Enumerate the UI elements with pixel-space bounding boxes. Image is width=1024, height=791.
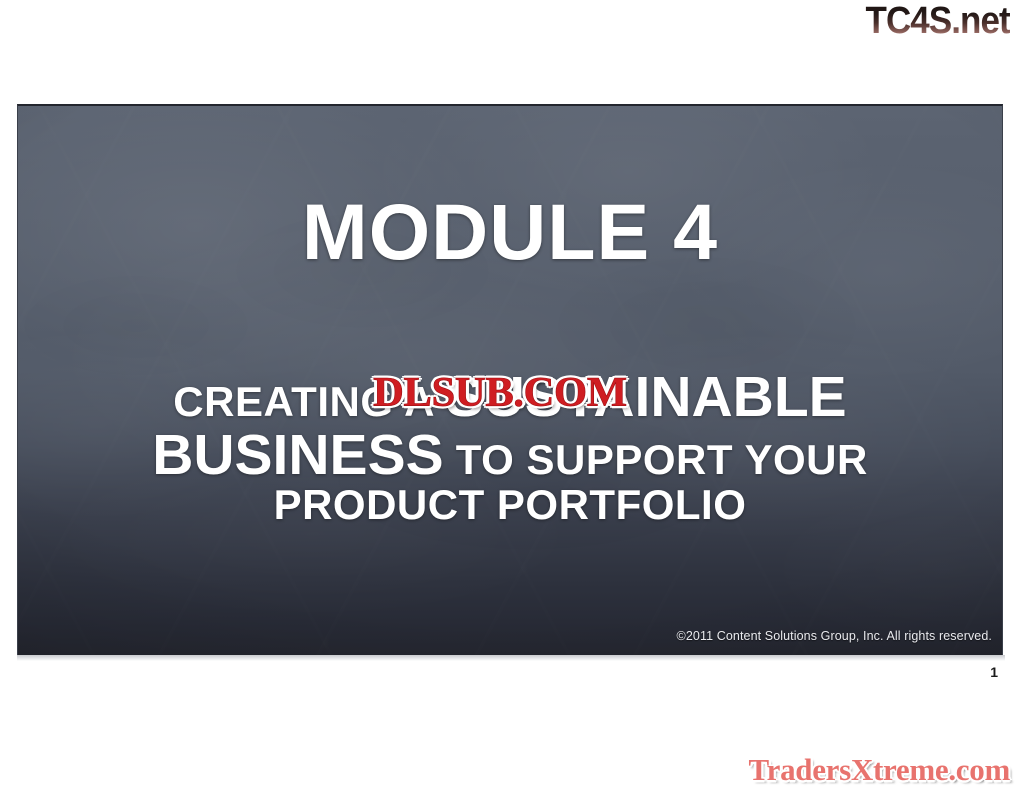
slide-drop-shadow — [17, 655, 1005, 661]
subtitle-line-2: BUSINESS TO SUPPORT YOUR — [18, 426, 1002, 484]
subtitle-line-3-part-1: PRODUCT PORTFOLIO — [274, 481, 747, 528]
tc4s-site-logo: TC4S.net — [866, 2, 1010, 40]
tradersxtreme-watermark: TradersXtreme.com — [749, 754, 1010, 785]
dlsub-watermark: DLSUB.COM — [373, 372, 627, 414]
slide-title: MODULE 4 — [18, 192, 1002, 271]
subtitle-line-2-part-1: BUSINESS — [152, 423, 443, 487]
subtitle-line-2-part-2: TO SUPPORT YOUR — [444, 436, 868, 483]
slide-number: 1 — [990, 664, 998, 680]
slide-copyright-notice: ©2011 Content Solutions Group, Inc. All … — [677, 629, 992, 643]
subtitle-line-3: PRODUCT PORTFOLIO — [18, 484, 1002, 527]
